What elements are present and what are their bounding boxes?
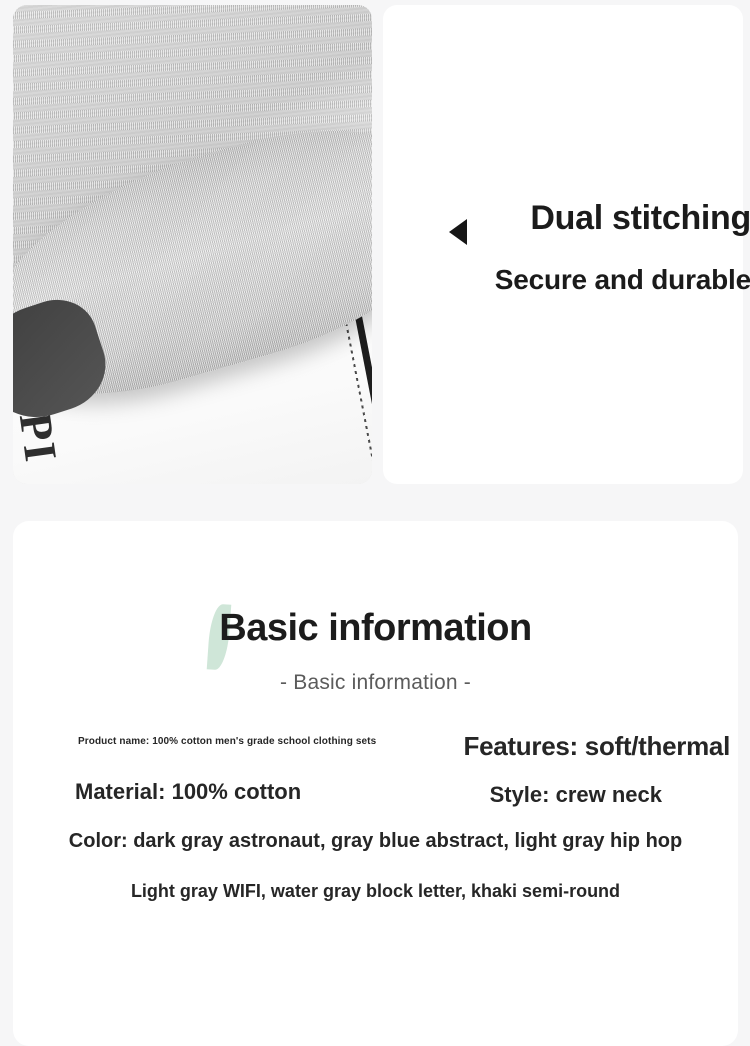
product-detail-page: TO D HAPPI ELCO Dual stitching Secure an… <box>0 0 750 1046</box>
dual-stitching-title-text: Dual stitching <box>530 199 750 237</box>
dual-stitching-subtitle: Secure and durable <box>383 264 750 296</box>
basic-information-header: Basic information - Basic information - <box>13 609 738 695</box>
dual-stitching-title: Dual stitching <box>383 197 750 240</box>
dual-stitching-card: Dual stitching Secure and durable <box>383 5 743 484</box>
spec-style: Style: crew neck <box>490 782 662 808</box>
spec-product-name: Product name: 100% cotton men's grade sc… <box>78 736 376 747</box>
spec-color-line-1: Color: dark gray astronaut, gray blue ab… <box>13 830 738 853</box>
top-section: TO D HAPPI ELCO Dual stitching Secure an… <box>0 0 750 490</box>
specification-list: Product name: 100% cotton men's grade sc… <box>13 731 738 951</box>
spec-color-line-2: Light gray WIFI, water gray block letter… <box>13 881 738 902</box>
product-photo-image: TO D HAPPI ELCO <box>13 5 372 484</box>
basic-information-card: Basic information - Basic information - … <box>13 521 738 1046</box>
basic-information-subtitle: - Basic information - <box>13 671 738 695</box>
basic-information-title: Basic information <box>219 607 531 649</box>
arrow-marker-icon <box>449 219 467 245</box>
dual-stitching-text-block: Dual stitching Secure and durable <box>383 197 750 296</box>
spec-material: Material: 100% cotton <box>75 779 301 805</box>
product-photo-card[interactable]: TO D HAPPI ELCO <box>13 5 372 484</box>
basic-information-title-wrap: Basic information <box>219 609 531 647</box>
spec-features: Features: soft/thermal <box>464 731 730 762</box>
